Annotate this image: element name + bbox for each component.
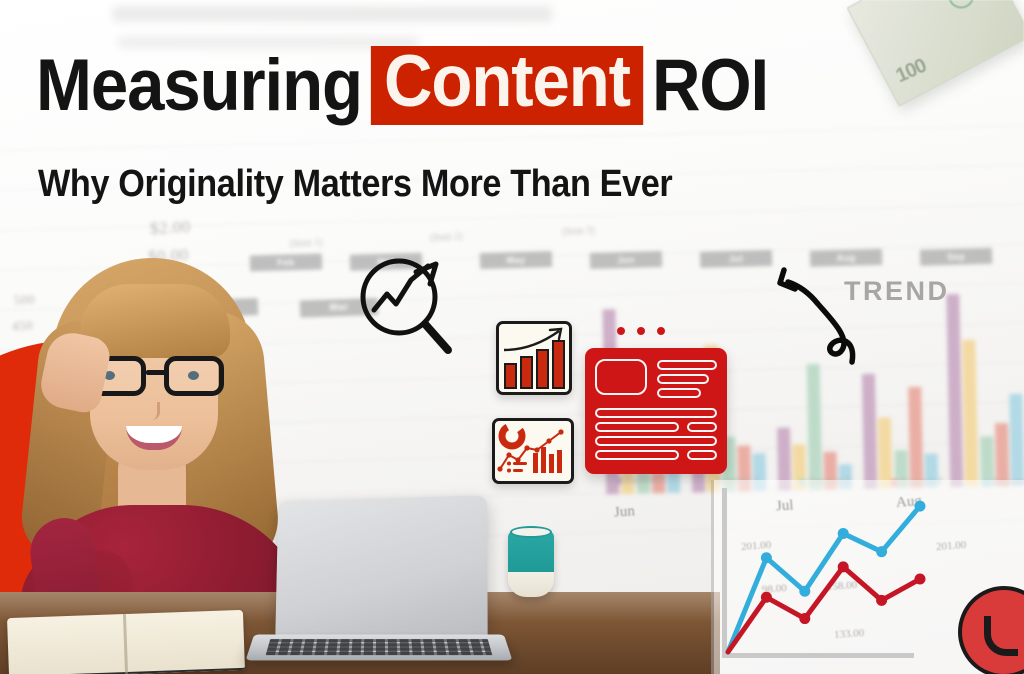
title-word-roi: ROI bbox=[652, 49, 768, 122]
month-chip-may: May bbox=[480, 251, 552, 269]
chart-tick-jun: Jun bbox=[613, 503, 635, 521]
three-dots-icon bbox=[617, 327, 673, 337]
analytics-dashboard-card bbox=[492, 418, 574, 484]
coffee-mug bbox=[508, 531, 554, 597]
title-word-measuring: Measuring bbox=[36, 49, 362, 122]
data-point bbox=[876, 546, 887, 557]
laptop-keyboard-base bbox=[246, 634, 513, 660]
data-point bbox=[915, 501, 926, 512]
hundred-dollar-bill: 100 bbox=[834, 0, 1024, 120]
page-title: Measuring Content ROI bbox=[36, 46, 768, 125]
month-chip-jun: Jun bbox=[590, 251, 662, 269]
trend-label: TREND bbox=[844, 276, 950, 307]
bar-chart-growth-card bbox=[496, 321, 572, 395]
red-article-card-icon bbox=[585, 348, 727, 474]
bg-bar-series-b-4 bbox=[963, 340, 979, 487]
data-point bbox=[876, 595, 887, 606]
data-point bbox=[761, 592, 772, 603]
background-title-smudge bbox=[112, 6, 552, 22]
magnifying-glass-growth-icon bbox=[356, 252, 456, 362]
poster-canvas: FebMarMayJunJulAugSep FebMar 500 450 $2.… bbox=[0, 0, 1024, 674]
legend-swatch bbox=[707, 478, 714, 485]
laptop bbox=[250, 498, 510, 674]
month-chip-sep: Sep bbox=[920, 248, 992, 266]
item-label-2: (Item 2) bbox=[430, 231, 463, 244]
axis-value-2: $2.00 bbox=[150, 217, 192, 239]
line-blue-series bbox=[728, 506, 920, 652]
bg-bar-series-a-4 bbox=[946, 294, 963, 487]
item-label-1: (Item 1) bbox=[290, 237, 323, 250]
month-chip-jul: Jul bbox=[700, 250, 772, 268]
data-point bbox=[799, 586, 810, 597]
page-subtitle: Why Originality Matters More Than Ever bbox=[38, 163, 672, 206]
legend-swatch bbox=[615, 478, 622, 485]
laptop-screen bbox=[275, 495, 487, 642]
open-notebook bbox=[7, 610, 245, 674]
data-point bbox=[915, 574, 926, 585]
item-label-3: (Item 3) bbox=[562, 225, 595, 238]
title-highlight-content: Content bbox=[371, 46, 643, 125]
legend-label: Expense 1 bbox=[625, 474, 667, 486]
data-point bbox=[799, 613, 810, 624]
legend-item-1: Expense 1 bbox=[615, 474, 667, 486]
data-point bbox=[838, 528, 849, 539]
data-point bbox=[838, 561, 849, 572]
data-point bbox=[761, 552, 772, 563]
